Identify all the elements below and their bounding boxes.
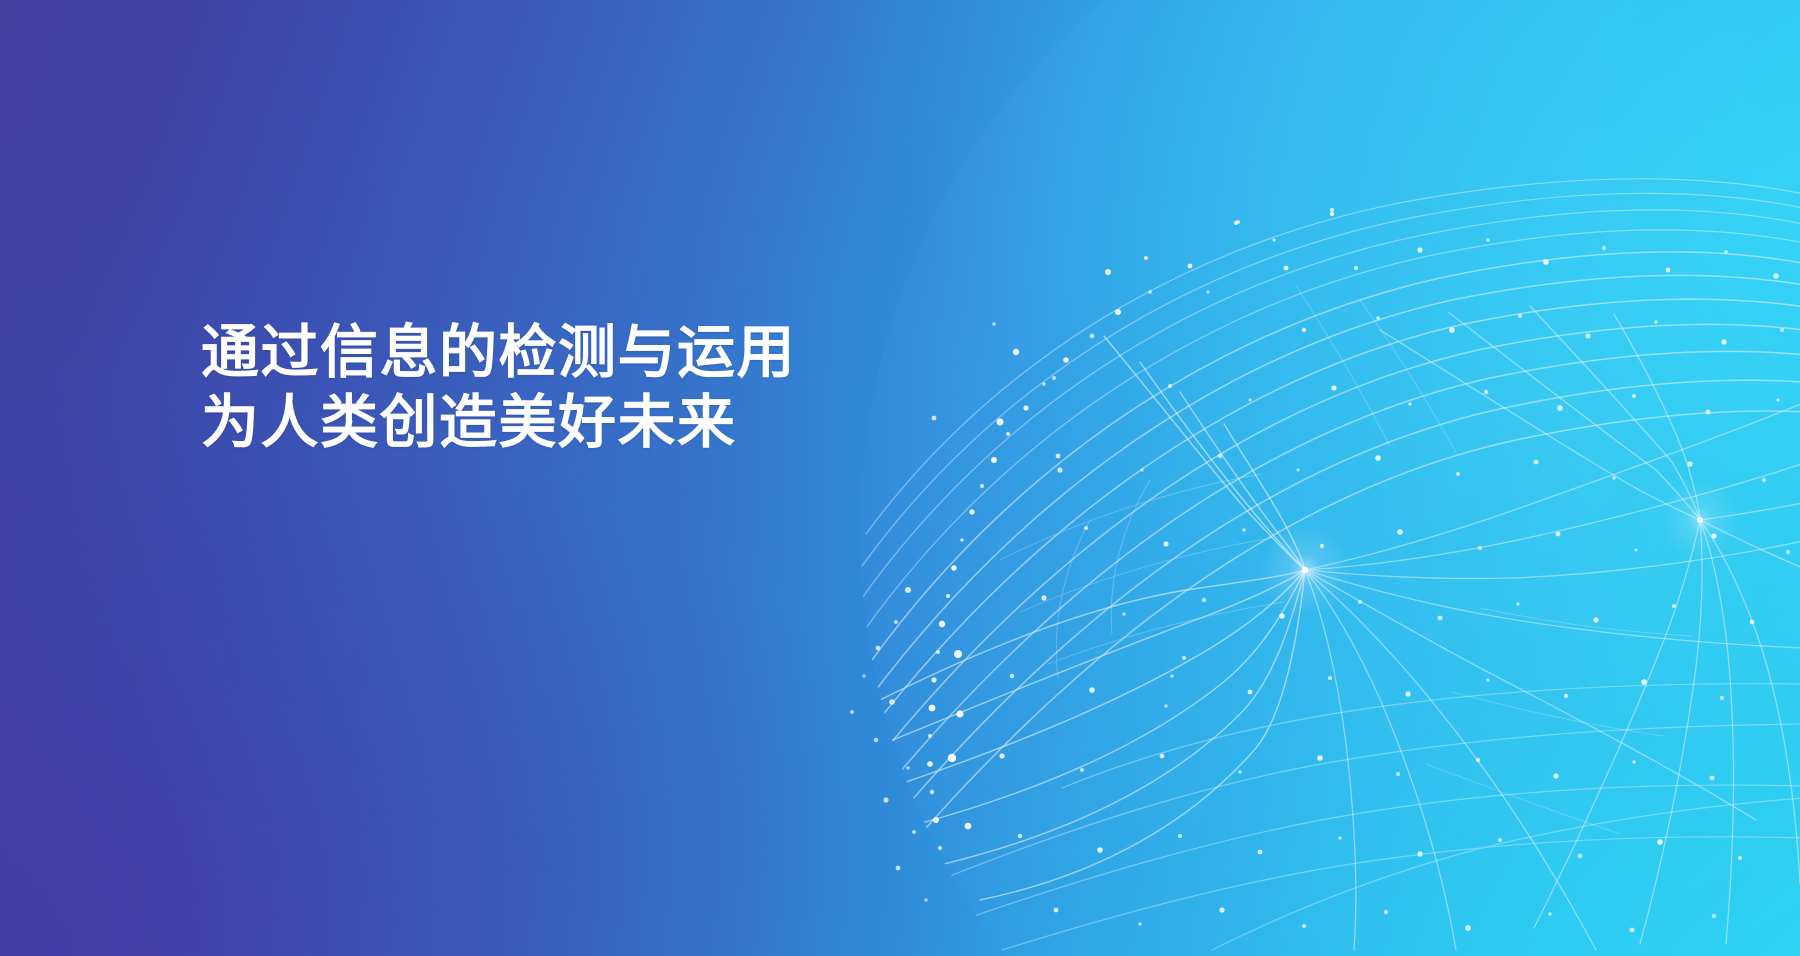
hero-banner: 通过信息的检测与运用 为人类创造美好未来 bbox=[0, 0, 1800, 956]
headline-line-2: 为人类创造美好未来 bbox=[201, 388, 796, 458]
headline-line-1: 通过信息的检测与运用 bbox=[201, 318, 796, 388]
globe-graphic bbox=[0, 0, 1800, 956]
hero-headline: 通过信息的检测与运用 为人类创造美好未来 bbox=[201, 318, 796, 458]
globe-body bbox=[782, 0, 1800, 956]
